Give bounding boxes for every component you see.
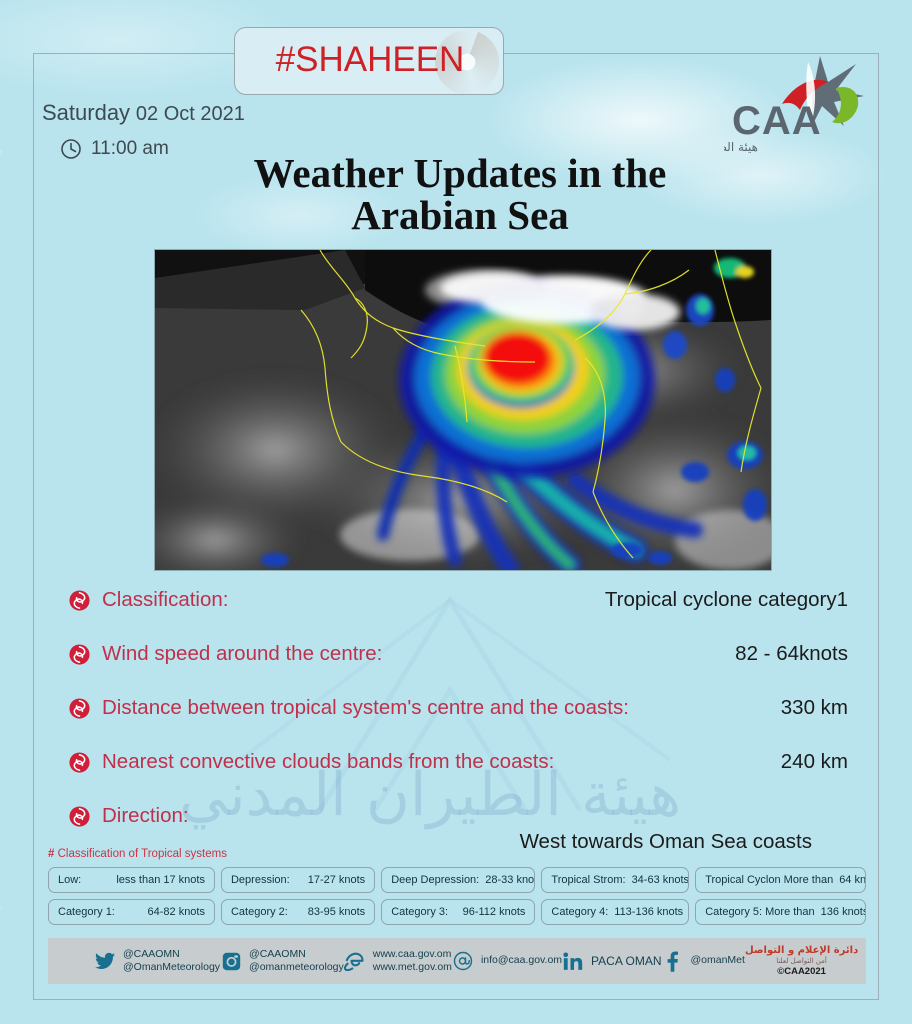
- credit-arabic-main: دائرة الإعلام و التواصل: [745, 945, 858, 957]
- classification-row-2: Category 1: 64-82 knots Category 2: 83-9…: [48, 899, 866, 925]
- cell-value: 113-136 knots: [614, 906, 683, 918]
- data-row: Wind speed around the centre: 82 - 64kno…: [68, 642, 848, 696]
- weather-infographic-poster: هيئة الطيران المدني #SHAHEEN Saturday 02…: [0, 0, 912, 1024]
- instagram-line2: @omanmeteorology: [249, 961, 344, 973]
- hashtag-badge: #SHAHEEN: [234, 27, 504, 95]
- cell-value: 17-27 knots: [308, 874, 365, 886]
- instagram-line1: @CAAOMN: [249, 948, 306, 960]
- row-value: 240 km: [781, 750, 848, 774]
- page-title-line1: Weather Updates in the: [150, 152, 770, 194]
- cell-name: Category 2:: [231, 906, 288, 918]
- date-line: Saturday 02 Oct 2021: [42, 100, 245, 126]
- cell-value: 96-112 knots: [463, 906, 526, 918]
- table-cell: Category 2: 83-95 knots: [221, 899, 375, 925]
- table-cell: Category 1: 64-82 knots: [48, 899, 215, 925]
- data-rows: Classification: Tropical cyclone categor…: [68, 588, 848, 858]
- classification-table: Low: less than 17 knots Depression: 17-2…: [48, 867, 866, 931]
- cell-value: 28-33 knots: [485, 874, 535, 886]
- row-label: Wind speed around the centre:: [102, 642, 382, 666]
- media-department-credit: دائرة الإعلام و التواصل أمن التواصل لعلن…: [745, 945, 858, 977]
- cell-name: Tropical Cyclon More than: [705, 874, 833, 886]
- cell-value: 64 knots: [839, 874, 866, 886]
- row-label: Classification:: [102, 588, 228, 612]
- social-footer-bar: @CAAOMN @OmanMeteorology @CAAOMN @omanme…: [48, 938, 866, 984]
- facebook-icon: [662, 950, 684, 972]
- internet-explorer-icon: [344, 950, 366, 972]
- linkedin-name: PACA OMAN: [591, 954, 661, 969]
- classification-row-1: Low: less than 17 knots Depression: 17-2…: [48, 867, 866, 893]
- row-value: West towards Oman Sea coasts: [520, 830, 812, 854]
- cell-value: 83-95 knots: [308, 906, 365, 918]
- cell-name: Category 5: More than: [705, 906, 814, 918]
- table-cell: Category 4: 113-136 knots: [541, 899, 689, 925]
- credit-arabic-sub: أمن التواصل لعلنا: [745, 957, 858, 965]
- table-cell: Deep Depression: 28-33 knots: [381, 867, 535, 893]
- date-value: 02 Oct 2021: [136, 103, 245, 125]
- twitter-line2: @OmanMeteorology: [123, 961, 220, 973]
- cell-name: Category 3:: [391, 906, 448, 918]
- logo-text: CAA: [732, 99, 822, 143]
- cyclone-icon: [68, 751, 91, 774]
- footer-linkedin[interactable]: PACA OMAN: [562, 950, 661, 972]
- cyclone-icon: [68, 805, 91, 828]
- cell-value: 34-63 knots: [632, 874, 689, 886]
- cyclone-icon: [68, 697, 91, 720]
- cyclone-icon: [68, 589, 91, 612]
- footer-instagram-handles: @CAAOMN @omanmeteorology: [249, 948, 344, 974]
- row-label: Nearest convective clouds bands from the…: [102, 750, 554, 774]
- caa-logo: CAA هيئة الطيران المدني: [724, 52, 876, 157]
- email-address: info@caa.gov.om: [481, 954, 562, 967]
- footer-twitter[interactable]: @CAAOMN @OmanMeteorology: [94, 948, 220, 974]
- row-label: Direction:: [102, 804, 189, 828]
- data-row: Nearest convective clouds bands from the…: [68, 750, 848, 804]
- hashtag-label: #SHAHEEN: [235, 40, 504, 80]
- instagram-icon: [220, 950, 242, 972]
- at-sign-icon: [452, 950, 474, 972]
- row-label: Distance between tropical system's centr…: [102, 696, 629, 720]
- satellite-image: [155, 250, 771, 570]
- cell-name: Deep Depression:: [391, 874, 479, 886]
- facebook-handle: @omanMet: [691, 954, 745, 967]
- footer-twitter-handles: @CAAOMN @OmanMeteorology: [123, 948, 220, 974]
- table-cell: Low: less than 17 knots: [48, 867, 215, 893]
- row-value: 82 - 64knots: [735, 642, 848, 666]
- cell-name: Tropical Strom:: [551, 874, 625, 886]
- cell-name: Category 1:: [58, 906, 115, 918]
- classification-heading: # Classification of Tropical systems: [48, 848, 227, 860]
- cell-value: 64-82 knots: [148, 906, 205, 918]
- clock-icon: [60, 138, 82, 160]
- row-value: 330 km: [781, 696, 848, 720]
- data-row: Distance between tropical system's centr…: [68, 696, 848, 750]
- page-title-line2: Arabian Sea: [150, 194, 770, 236]
- data-row: Classification: Tropical cyclone categor…: [68, 588, 848, 642]
- table-cell: Category 3: 96-112 knots: [381, 899, 535, 925]
- hash-symbol: #: [48, 848, 54, 860]
- table-cell: Tropical Cyclon More than 64 knots: [695, 867, 866, 893]
- table-cell: Tropical Strom: 34-63 knots: [541, 867, 689, 893]
- footer-facebook[interactable]: @omanMet: [662, 950, 745, 972]
- table-cell: Depression: 17-27 knots: [221, 867, 375, 893]
- cell-name: Category 4:: [551, 906, 608, 918]
- footer-instagram[interactable]: @CAAOMN @omanmeteorology: [220, 948, 344, 974]
- footer-website[interactable]: www.caa.gov.om www.met.gov.om: [344, 948, 452, 974]
- twitter-icon: [94, 950, 116, 972]
- cell-value: 136 knots: [821, 906, 866, 918]
- table-cell: Category 5: More than 136 knots: [695, 899, 866, 925]
- cell-value: less than 17 knots: [116, 874, 205, 886]
- row-value: Tropical cyclone category1: [605, 588, 848, 612]
- cell-name: Low:: [58, 874, 81, 886]
- cyclone-icon: [68, 643, 91, 666]
- classification-heading-label: Classification of Tropical systems: [58, 848, 227, 860]
- cell-name: Depression:: [231, 874, 290, 886]
- linkedin-icon: [562, 950, 584, 972]
- footer-website-urls: www.caa.gov.om www.met.gov.om: [373, 948, 452, 974]
- credit-copyright: ©CAA2021: [745, 966, 858, 977]
- twitter-line1: @CAAOMN: [123, 948, 180, 960]
- website-line1: www.caa.gov.om: [373, 948, 452, 960]
- page-title: Weather Updates in the Arabian Sea: [150, 152, 770, 236]
- date-day: Saturday: [42, 100, 130, 125]
- website-line2: www.met.gov.om: [373, 961, 452, 973]
- footer-email[interactable]: info@caa.gov.om: [452, 950, 562, 972]
